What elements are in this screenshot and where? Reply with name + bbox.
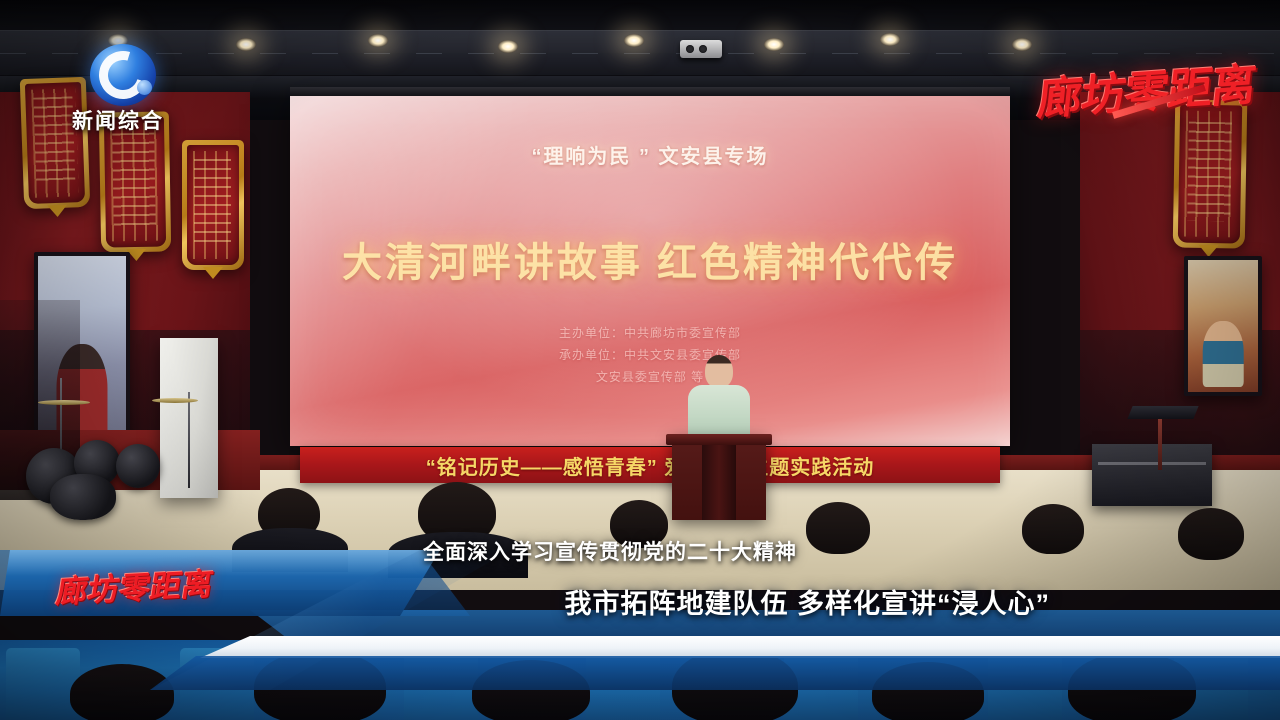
- program-watermark: 廊坊零距离: [1036, 52, 1258, 138]
- screen-credit-line-2: 承办单位：中共文安县委宣传部: [290, 346, 1010, 363]
- lower-third-bottom-band: [0, 656, 1280, 690]
- honor-plaque: [20, 77, 90, 209]
- headline-line-2: 我市拓阵地建队伍 多样化宣讲“浸人心”: [564, 582, 1050, 621]
- speaker-head: [705, 355, 733, 388]
- podium: [672, 434, 766, 520]
- stage-spotlight-icon: [624, 34, 644, 47]
- screen-main-title: 大清河畔讲故事 红色精神代代传: [290, 230, 1010, 288]
- ceiling-projector: [680, 40, 722, 58]
- cymbal: [152, 398, 198, 403]
- drum-kit: [20, 440, 210, 520]
- screen-credit-line-1: 主办单位：中共廊坊市委宣传部: [290, 324, 1010, 341]
- screen-credit-line-3: 文安县委宣传部 等: [290, 368, 1010, 385]
- stage-spotlight-icon: [498, 40, 518, 53]
- cymbal: [38, 400, 90, 405]
- projection-screen: “理响为民 ” 文安县专场 大清河畔讲故事 红色精神代代传 主办单位：中共廊坊市…: [290, 96, 1010, 446]
- broadcast-video-frame: “理响为民 ” 文安县专场 大清河畔讲故事 红色精神代代传 主办单位：中共廊坊市…: [0, 0, 1280, 720]
- stage-spotlight-icon: [1012, 38, 1032, 51]
- screen-header-text: “理响为民 ” 文安县专场: [290, 140, 1010, 169]
- program-watermark-text: 廊坊零距离: [1032, 48, 1263, 127]
- music-stand: [1158, 418, 1162, 470]
- wall-poster: [1184, 256, 1262, 396]
- equipment-cases: [1092, 444, 1212, 506]
- stage-spotlight-icon: [236, 38, 256, 51]
- stage-spotlight-icon: [764, 38, 784, 51]
- stage-banner-text: “铭记历史——感悟青春” 爱国主义主题实践活动: [426, 451, 875, 480]
- honor-plaque: [182, 140, 244, 270]
- stage-spotlight-icon: [880, 33, 900, 46]
- channel-ball-logo-icon: [90, 44, 156, 106]
- headline-line-1: 全面深入学习宣传贯彻党的二十大精神: [0, 536, 1280, 566]
- stage-red-banner: “铭记历史——感悟青春” 爱国主义主题实践活动: [300, 447, 1000, 483]
- lower-third-white-divider: [0, 636, 1280, 658]
- channel-name: 新闻综合: [72, 105, 164, 135]
- stage-spotlight-icon: [368, 34, 388, 47]
